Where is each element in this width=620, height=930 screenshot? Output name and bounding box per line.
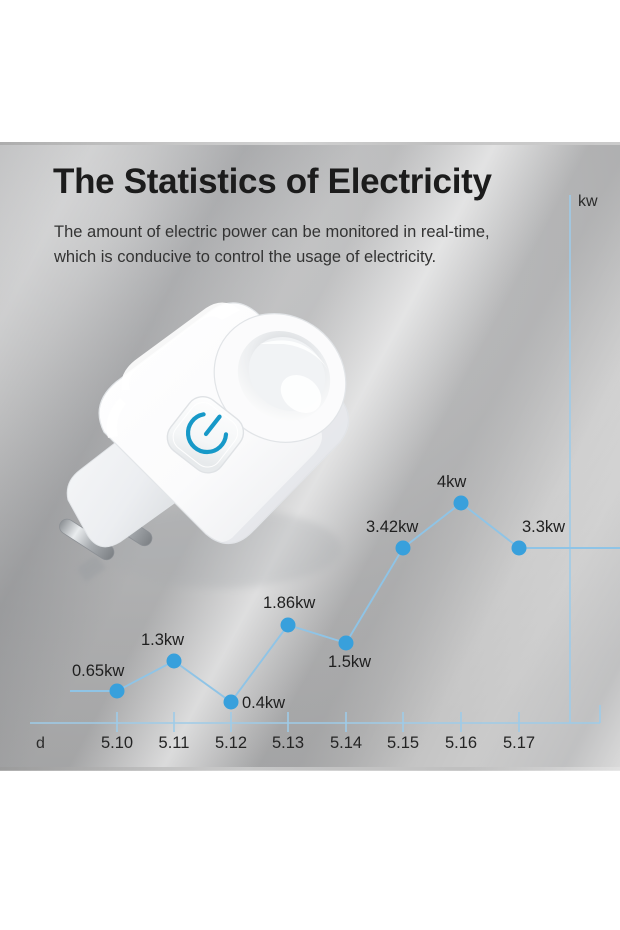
data-point	[454, 496, 469, 511]
x-tick-label: 5.16	[445, 734, 477, 752]
x-tick-label: 5.17	[503, 734, 535, 752]
y-axis-unit-label: kw	[578, 193, 598, 210]
series-path	[117, 503, 519, 702]
data-point	[512, 541, 527, 556]
x-tick-label: 5.10	[101, 734, 133, 752]
x-axis-unit-label: d	[36, 735, 45, 752]
chart-axes	[30, 195, 600, 723]
point-value-label: 1.3kw	[141, 631, 184, 649]
page-subtitle: The amount of electric power can be moni…	[54, 220, 574, 270]
point-value-label: 1.5kw	[328, 653, 371, 671]
x-tick-label: 5.14	[330, 734, 362, 752]
x-tick-label: 5.15	[387, 734, 419, 752]
point-value-label: 0.4kw	[242, 694, 285, 712]
point-value-label: 1.86kw	[263, 594, 315, 612]
x-axis-ticks	[117, 712, 519, 732]
data-point	[224, 695, 239, 710]
data-point	[396, 541, 411, 556]
point-value-label: 0.65kw	[72, 662, 124, 680]
data-point	[281, 618, 296, 633]
data-point	[339, 636, 354, 651]
x-tick-label: 5.11	[159, 734, 190, 752]
x-tick-label: 5.13	[272, 734, 304, 752]
x-tick-label: 5.12	[215, 734, 247, 752]
data-point	[167, 654, 182, 669]
product-banner: 0.65kw 1.3kw 0.4kw 1.86kw 1.5kw 3.42kw 4…	[0, 0, 620, 930]
point-value-label: 3.42kw	[366, 518, 418, 536]
data-point	[110, 684, 125, 699]
page-title: The Statistics of Electricity	[53, 163, 492, 202]
point-value-label: 3.3kw	[522, 518, 565, 536]
point-value-label: 4kw	[437, 473, 466, 491]
chart-data-points	[110, 496, 527, 710]
